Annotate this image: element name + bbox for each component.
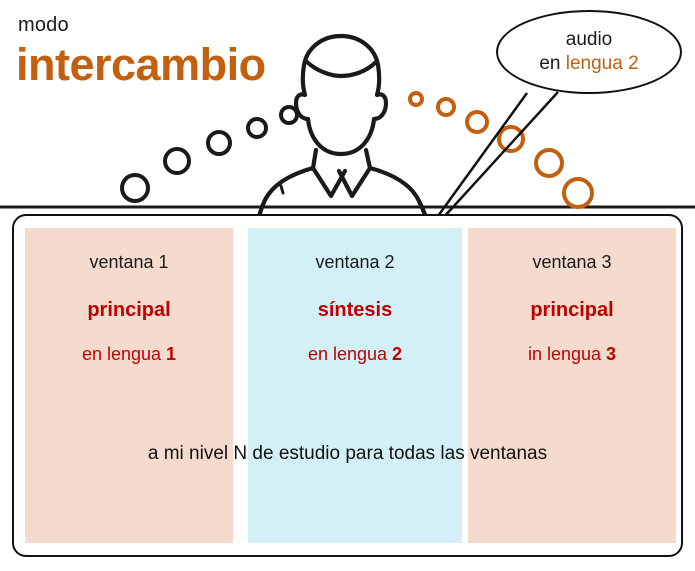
page-kicker: modo	[18, 14, 69, 37]
window-1-language-number: 1	[166, 344, 176, 364]
window-2-language: en lengua 2	[248, 344, 462, 365]
comma-mark	[281, 186, 283, 193]
windows-columns: ventana 1 principal en lengua 1 ventana …	[12, 228, 683, 543]
speech-bubble-line1: audio	[566, 28, 613, 52]
window-column-3[interactable]: ventana 3 principal in lengua 3	[468, 228, 676, 543]
window-column-1[interactable]: ventana 1 principal en lengua 1	[25, 228, 233, 543]
window-3-title: ventana 3	[468, 252, 676, 273]
speech-bubble-line2: en lengua 2	[539, 52, 638, 76]
window-3-language: in lengua 3	[468, 344, 676, 365]
speech-bubble-line2-highlight: lengua 2	[566, 53, 639, 74]
window-column-2[interactable]: ventana 2 síntesis en lengua 2	[248, 228, 462, 543]
slide-canvas: modo intercambio	[0, 0, 695, 571]
window-1-role: principal	[25, 299, 233, 322]
window-2-title: ventana 2	[248, 252, 462, 273]
page-title: intercambio	[16, 42, 266, 87]
orange-bubbles-icon	[410, 93, 592, 207]
window-1-language-prefix: en lengua	[82, 344, 166, 364]
window-1-language: en lengua 1	[25, 344, 233, 365]
window-2-role: síntesis	[248, 299, 462, 322]
window-2-language-number: 2	[392, 344, 402, 364]
speech-bubble-line2-prefix: en	[539, 53, 565, 74]
window-3-language-number: 3	[606, 344, 616, 364]
window-2-language-prefix: en lengua	[308, 344, 392, 364]
window-1-title: ventana 1	[25, 252, 233, 273]
panel-caption: a mi nivel N de estudio para todas las v…	[12, 443, 683, 465]
speech-bubble: audio en lengua 2	[496, 10, 682, 94]
black-bubbles-icon	[122, 107, 297, 201]
window-3-language-prefix: in lengua	[528, 344, 606, 364]
window-3-role: principal	[468, 299, 676, 322]
